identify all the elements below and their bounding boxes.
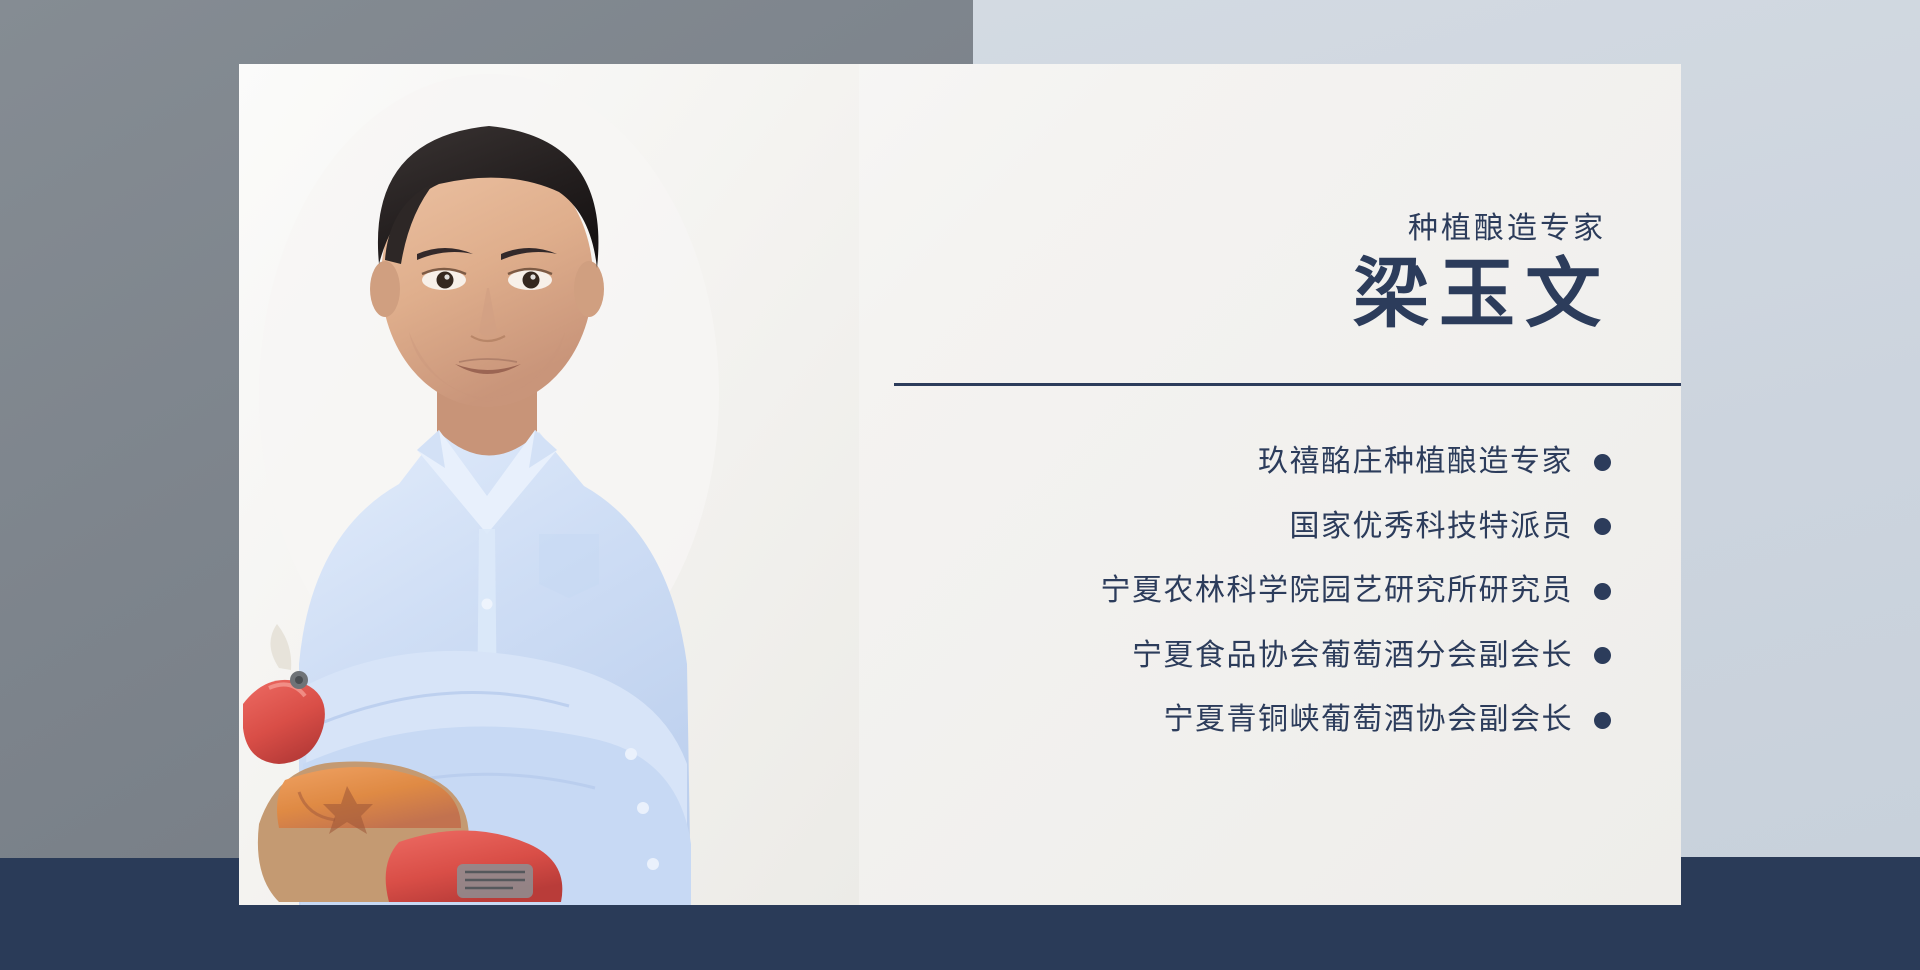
credentials-list: 玖禧酩庄种植酿造专家 国家优秀科技特派员 宁夏农林科学院园艺研究所研究员 宁夏食… [1101, 442, 1612, 741]
card-content: 种植酿造专家 梁玉文 玖禧酩庄种植酿造专家 国家优秀科技特派员 宁夏农林科学院园… [859, 64, 1681, 905]
poster-stage: 种植酿造专家 梁玉文 玖禧酩庄种植酿造专家 国家优秀科技特派员 宁夏农林科学院园… [0, 0, 1920, 970]
credential-text: 宁夏青铜峡葡萄酒协会副会长 [1164, 700, 1574, 741]
list-item: 宁夏农林科学院园艺研究所研究员 [1101, 571, 1612, 612]
list-item: 玖禧酩庄种植酿造专家 [1258, 442, 1611, 483]
credential-text: 国家优秀科技特派员 [1290, 507, 1574, 548]
list-item: 国家优秀科技特派员 [1290, 507, 1612, 548]
portrait-photo [239, 64, 859, 905]
credential-text: 宁夏食品协会葡萄酒分会副会长 [1132, 636, 1573, 677]
list-item: 宁夏食品协会葡萄酒分会副会长 [1132, 636, 1611, 677]
credential-text: 玖禧酩庄种植酿造专家 [1258, 442, 1573, 483]
bullet-dot-icon [1594, 712, 1611, 729]
list-item: 宁夏青铜峡葡萄酒协会副会长 [1164, 700, 1612, 741]
bullet-dot-icon [1594, 518, 1611, 535]
expert-name: 梁玉文 [1353, 254, 1611, 336]
bullet-dot-icon [1594, 647, 1611, 664]
credential-text: 宁夏农林科学院园艺研究所研究员 [1101, 571, 1574, 612]
expert-role-subtitle: 种植酿造专家 [1408, 203, 1606, 247]
bullet-dot-icon [1594, 583, 1611, 600]
expert-profile-card: 种植酿造专家 梁玉文 玖禧酩庄种植酿造专家 国家优秀科技特派员 宁夏农林科学院园… [239, 64, 1681, 905]
divider-line [894, 383, 1681, 386]
bullet-dot-icon [1594, 454, 1611, 471]
